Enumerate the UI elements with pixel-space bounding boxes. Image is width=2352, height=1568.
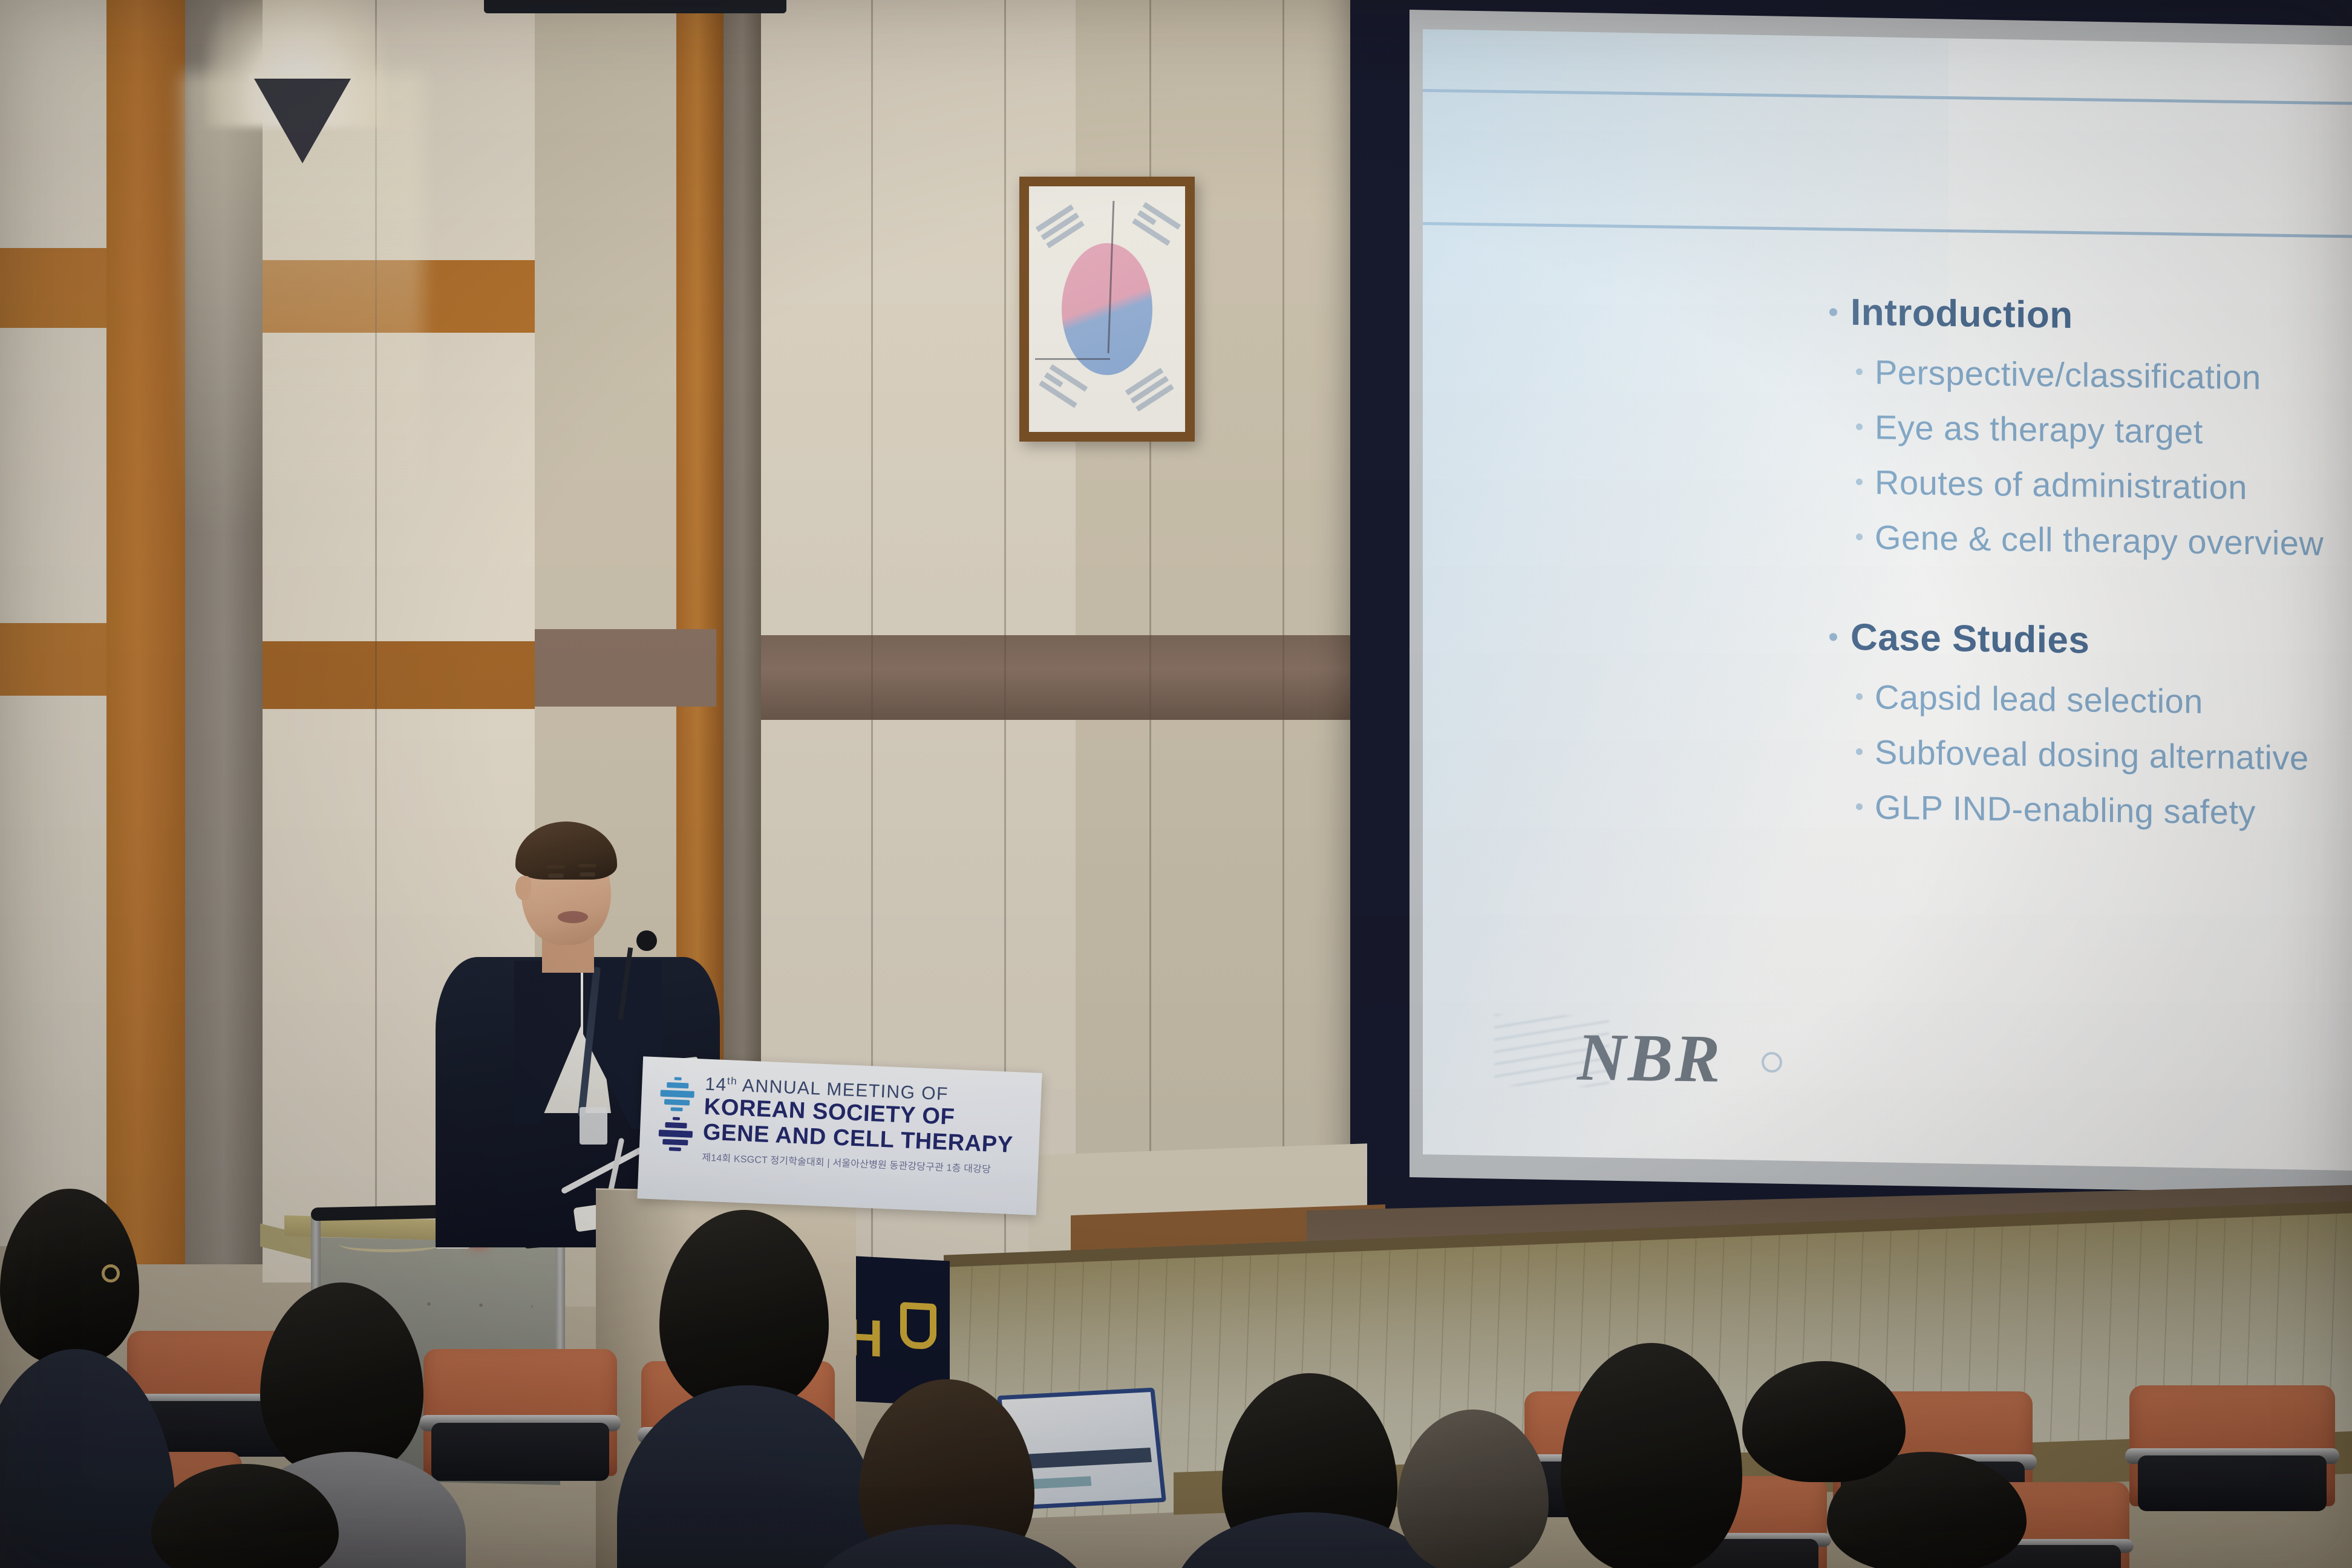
- seat-back: [2138, 1455, 2327, 1511]
- presentation-slide: OVERVIEW Introduction Perspective/classi…: [1423, 31, 2352, 1169]
- sconce-light-wash: [181, 73, 423, 738]
- logo-helix-upper: [659, 1077, 695, 1112]
- conference-photo-scene: OVERVIEW Introduction Perspective/classi…: [0, 0, 2352, 1568]
- slide-bullet-item: Perspective/classification: [1856, 352, 2352, 400]
- ceiling-mounted-speaker: [484, 0, 786, 13]
- slide-bullet-item: Routes of administration: [1856, 462, 2352, 511]
- speaker-eyebrow: [547, 865, 565, 869]
- flag-crease: [1035, 358, 1110, 360]
- wall-band-orange-1: [0, 248, 106, 328]
- taeguk-circle-icon: [1062, 243, 1152, 375]
- microphone-icon: [636, 930, 657, 951]
- trigram-icon: [1036, 204, 1091, 259]
- speaker-hair: [515, 822, 617, 880]
- speaker-eyebrow: [578, 864, 596, 867]
- bullet-dot-icon: [1829, 308, 1837, 316]
- speaker-eye: [580, 872, 595, 877]
- bullet-dot-icon: [1856, 748, 1863, 755]
- speaker-badge: [580, 1107, 607, 1145]
- wall-band-orange-2: [0, 623, 106, 696]
- ksgct-dna-logo-icon: [658, 1073, 696, 1154]
- slide-bullet-item: Subfoveal dosing alternative: [1856, 732, 2352, 780]
- slide-bullet-text: GLP IND-enabling safety: [1875, 787, 2256, 832]
- slide-bullet-text: Gene & cell therapy overview: [1875, 517, 2324, 563]
- logo-helix-lower: [658, 1116, 694, 1151]
- slide-bullet-item: Gene & cell therapy overview: [1856, 517, 2352, 566]
- slide-bullet-item: Capsid lead selection: [1856, 677, 2352, 725]
- speaker-mouth: [558, 911, 588, 923]
- slide-bullet-item: Eye as therapy target: [1856, 407, 2352, 456]
- shield-emblem-icon: [900, 1302, 936, 1350]
- nbr-logo-circle-icon: [1762, 1052, 1782, 1073]
- seat: [423, 1349, 617, 1476]
- speaker-ear: [515, 876, 531, 900]
- bullet-dot-icon: [1856, 803, 1863, 810]
- slide-bullet-list: Introduction Perspective/classification …: [1829, 290, 2352, 851]
- slide-bullet-text: Routes of administration: [1875, 462, 2247, 507]
- slide-bullet-text: Eye as therapy target: [1875, 407, 2203, 451]
- slide-section-heading: Introduction: [1829, 290, 2352, 342]
- slide-section-heading: Case Studies: [1829, 615, 2352, 667]
- eyeglasses-icon: [102, 1264, 120, 1282]
- wall-sconce-icon: [254, 79, 351, 163]
- flag-mat: [1029, 186, 1185, 432]
- bullet-dot-icon: [1829, 633, 1837, 641]
- bullet-dot-icon: [1856, 368, 1863, 375]
- seat: [2129, 1385, 2335, 1506]
- wall-band-brown-1: [535, 629, 716, 707]
- bullet-dot-icon: [1856, 479, 1863, 485]
- trigram-icon: [1125, 202, 1181, 256]
- speaker-eye: [548, 874, 564, 878]
- framed-korean-flag: [1019, 177, 1195, 442]
- projection-screen: OVERVIEW Introduction Perspective/classi…: [1423, 29, 2352, 1171]
- slide-heading-text: Introduction: [1851, 291, 2073, 337]
- slide-bullet-text: Capsid lead selection: [1875, 677, 2203, 721]
- banner-text-block: 14th ANNUAL MEETING OF KOREAN SOCIETY OF…: [702, 1075, 1031, 1177]
- bullet-dot-icon: [1856, 693, 1863, 700]
- trigram-icon: [1125, 368, 1181, 422]
- bullet-dot-icon: [1856, 534, 1863, 540]
- trigram-icon: [1032, 364, 1088, 419]
- lectern-banner: 14th ANNUAL MEETING OF KOREAN SOCIETY OF…: [637, 1056, 1042, 1215]
- wall-wood-column-1: [106, 0, 185, 1264]
- slide-bullet-text: Perspective/classification: [1875, 352, 2261, 397]
- nbr-logo: NBR: [1577, 1019, 1722, 1099]
- bullet-dot-icon: [1856, 423, 1863, 430]
- slide-heading-text: Case Studies: [1851, 616, 2089, 662]
- seat-back: [431, 1423, 609, 1481]
- laptop-screen-bar: [1013, 1448, 1152, 1469]
- wall-band-brown-2: [761, 635, 1360, 720]
- slide-bullet-text: Subfoveal dosing alternative: [1875, 732, 2309, 777]
- slide-title-box: [1423, 87, 2352, 240]
- wall-seam: [1282, 0, 1284, 1331]
- slide-bullet-item: GLP IND-enabling safety: [1856, 787, 2352, 835]
